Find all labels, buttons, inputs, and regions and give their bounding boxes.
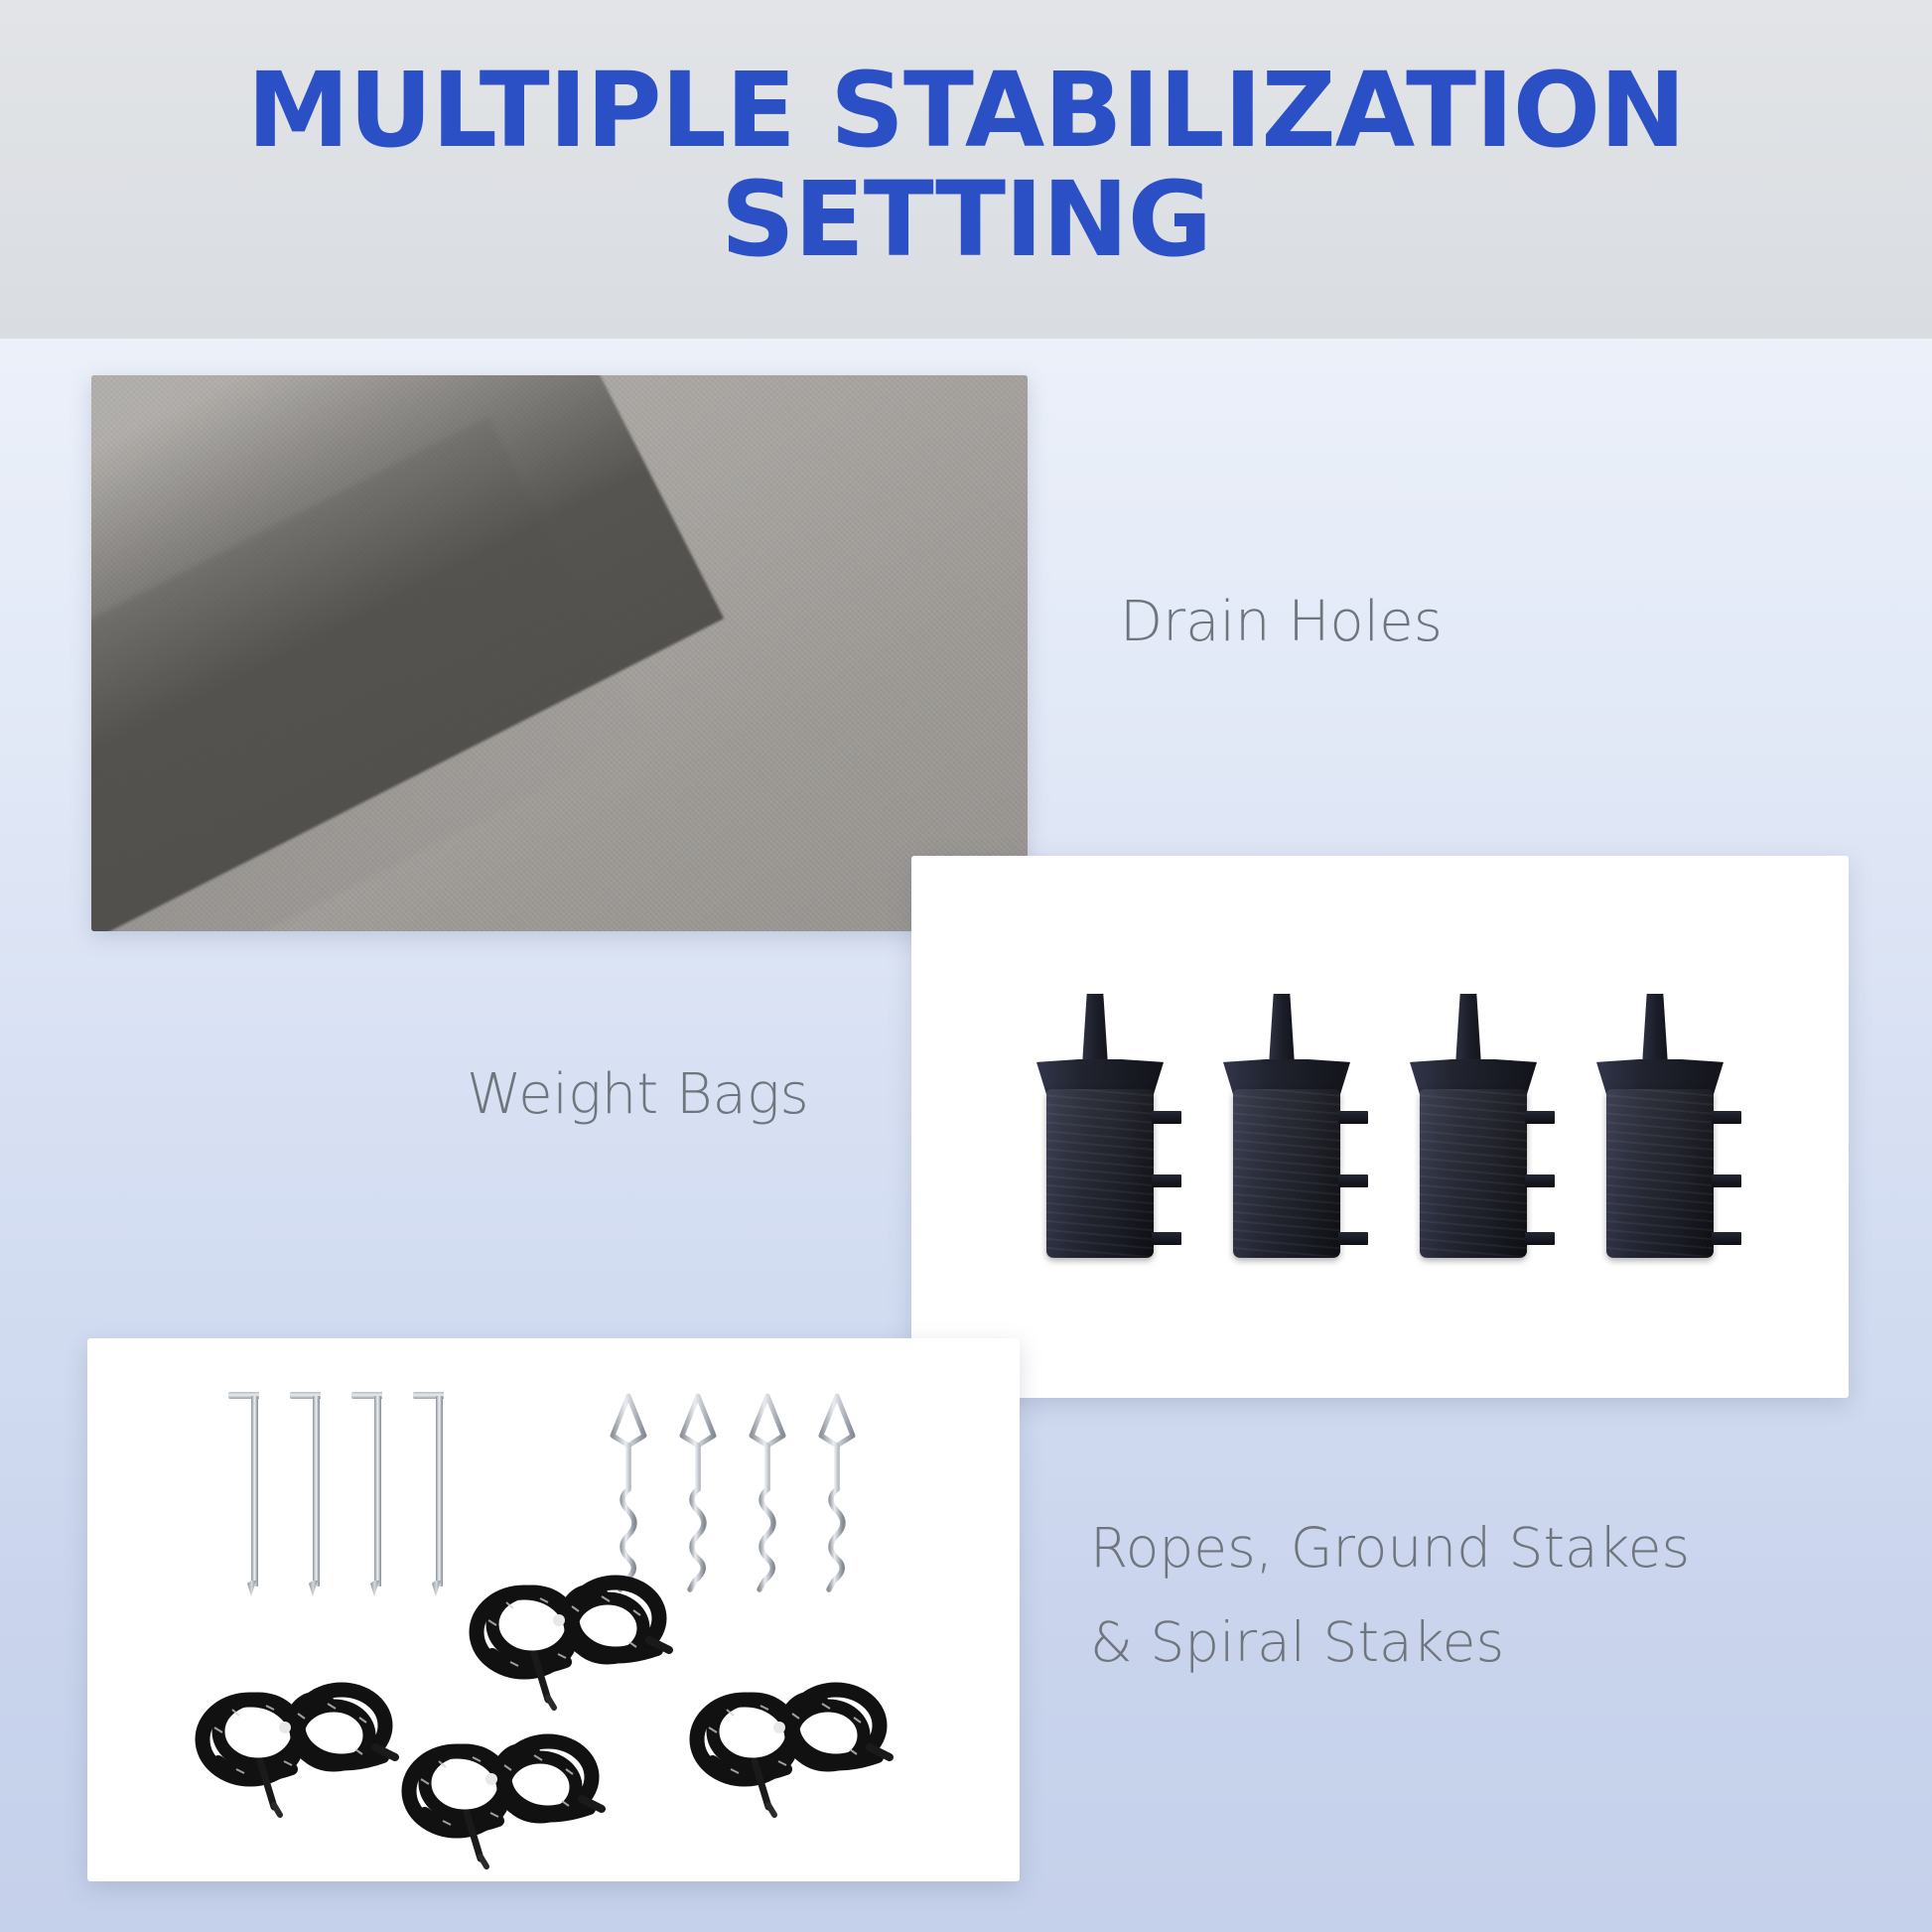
- caption-drain-holes: Drain Holes: [1120, 588, 1443, 657]
- ground-stake-shaft: [436, 1396, 443, 1587]
- weight-bag-body: [1606, 1089, 1714, 1258]
- coiled-rope: [189, 1666, 417, 1790]
- weight-bag: [1223, 994, 1350, 1260]
- ground-stake-shaft: [313, 1396, 320, 1587]
- weight-bags-photo-panel: [911, 856, 1849, 1398]
- ropes-stakes-stage: [87, 1338, 1020, 1881]
- weight-bag-sleeve: [1455, 994, 1481, 1065]
- weight-bag: [1410, 994, 1537, 1260]
- weight-bag-sleeve: [1642, 994, 1668, 1065]
- weight-bag-body: [1233, 1089, 1340, 1258]
- weight-bag: [1596, 994, 1724, 1260]
- weight-bag-sleeve: [1082, 994, 1108, 1065]
- ropes-stakes-photo-panel: [87, 1338, 1020, 1881]
- ground-stake-tip: [432, 1581, 441, 1596]
- page-title: MULTIPLE STABILIZATION SETTING: [0, 56, 1932, 274]
- ground-stake-tip: [247, 1581, 256, 1596]
- weight-bag-strap: [1338, 1174, 1368, 1187]
- weight-bags-row: [911, 856, 1849, 1398]
- caption-weight-bags: Weight Bags: [467, 1060, 809, 1130]
- drain-holes-photo-panel: [91, 375, 1028, 931]
- weight-bag-strap: [1712, 1174, 1741, 1187]
- weight-bag-strap: [1525, 1111, 1555, 1124]
- weight-bag-strap: [1152, 1232, 1181, 1245]
- weight-bag-strap: [1525, 1174, 1555, 1187]
- coiled-rope: [463, 1559, 691, 1683]
- ground-stake: [351, 1386, 395, 1585]
- ground-stake-tip: [370, 1581, 379, 1596]
- weight-bag-body: [1046, 1089, 1154, 1258]
- weight-bag-strap: [1152, 1174, 1181, 1187]
- weight-bag-strap: [1712, 1111, 1741, 1124]
- canopy-fabric: [91, 375, 1028, 931]
- ground-stake-shaft: [374, 1396, 381, 1587]
- weight-bag-strap: [1338, 1111, 1368, 1124]
- ground-stake: [413, 1386, 457, 1585]
- header-band: MULTIPLE STABILIZATION SETTING: [0, 0, 1932, 339]
- spiral-stake: [810, 1386, 864, 1594]
- coiled-rope: [683, 1666, 911, 1790]
- weight-bag-body: [1420, 1089, 1527, 1258]
- ground-stake: [290, 1386, 334, 1585]
- weight-bag: [1036, 994, 1164, 1260]
- weight-bag-strap: [1712, 1232, 1741, 1245]
- weight-bag-strap: [1338, 1232, 1368, 1245]
- ground-stake: [228, 1386, 272, 1585]
- weight-bag-sleeve: [1269, 994, 1295, 1065]
- caption-ropes-stakes: Ropes, Ground Stakes & Spiral Stakes: [1090, 1501, 1690, 1689]
- ground-stake-shaft: [251, 1396, 258, 1587]
- coiled-rope: [395, 1718, 623, 1842]
- spiral-stake: [741, 1386, 794, 1594]
- weight-bag-strap: [1525, 1232, 1555, 1245]
- infographic-page: MULTIPLE STABILIZATION SETTING Drain Hol…: [0, 0, 1932, 1932]
- weight-bag-strap: [1152, 1111, 1181, 1124]
- ground-stake-tip: [309, 1581, 318, 1596]
